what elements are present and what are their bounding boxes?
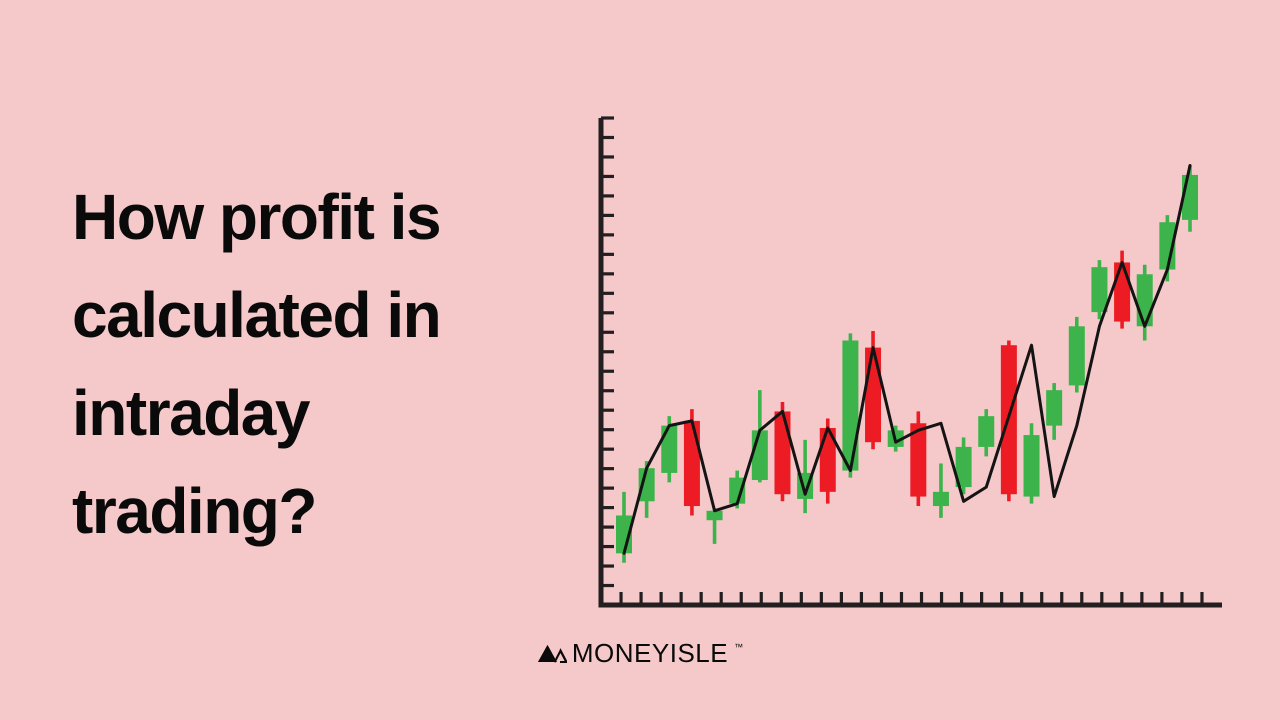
candle-body xyxy=(1114,262,1130,321)
slide-root: How profit is calculated in intraday tra… xyxy=(0,0,1280,720)
headline-line-4: trading? xyxy=(72,462,572,560)
candle-17 xyxy=(978,409,994,456)
headline-line-1: How profit is xyxy=(72,168,572,266)
candle-body xyxy=(978,416,994,447)
candle-series xyxy=(616,165,1198,562)
candle-20 xyxy=(1046,383,1062,440)
candle-body xyxy=(1069,326,1085,385)
candle-24 xyxy=(1137,265,1153,341)
candle-body xyxy=(1091,267,1107,312)
logo-trademark: ™ xyxy=(734,642,743,652)
page-title: How profit is calculated in intraday tra… xyxy=(72,168,572,560)
mountain-peaks-icon xyxy=(537,642,567,664)
candle-body xyxy=(774,411,790,494)
candle-21 xyxy=(1069,317,1085,393)
candle-body xyxy=(842,340,858,470)
candle-body xyxy=(752,430,768,480)
candle-19 xyxy=(1024,423,1040,503)
candle-7 xyxy=(752,390,768,482)
candle-11 xyxy=(842,333,858,477)
chart-svg xyxy=(580,100,1240,630)
headline-line-3: intraday xyxy=(72,364,572,462)
brand-logo: MONEYISLE ™ xyxy=(0,640,1280,666)
candle-26 xyxy=(1182,165,1198,231)
candle-body xyxy=(933,492,949,506)
candle-14 xyxy=(910,411,926,506)
headline-line-2: calculated in xyxy=(72,266,572,364)
candle-5 xyxy=(707,508,723,543)
candle-body xyxy=(865,348,881,443)
logo-inner: MONEYISLE ™ xyxy=(537,640,743,666)
candle-body xyxy=(1024,435,1040,496)
candle-body xyxy=(661,426,677,473)
candlestick-chart xyxy=(580,100,1240,630)
y-axis xyxy=(601,118,614,605)
x-axis xyxy=(599,592,1223,605)
logo-wordmark: MONEYISLE xyxy=(572,640,728,666)
candle-body xyxy=(1046,390,1062,425)
trend-line xyxy=(624,165,1190,553)
candle-body xyxy=(684,421,700,506)
candle-body xyxy=(1137,274,1153,326)
candle-15 xyxy=(933,463,949,517)
